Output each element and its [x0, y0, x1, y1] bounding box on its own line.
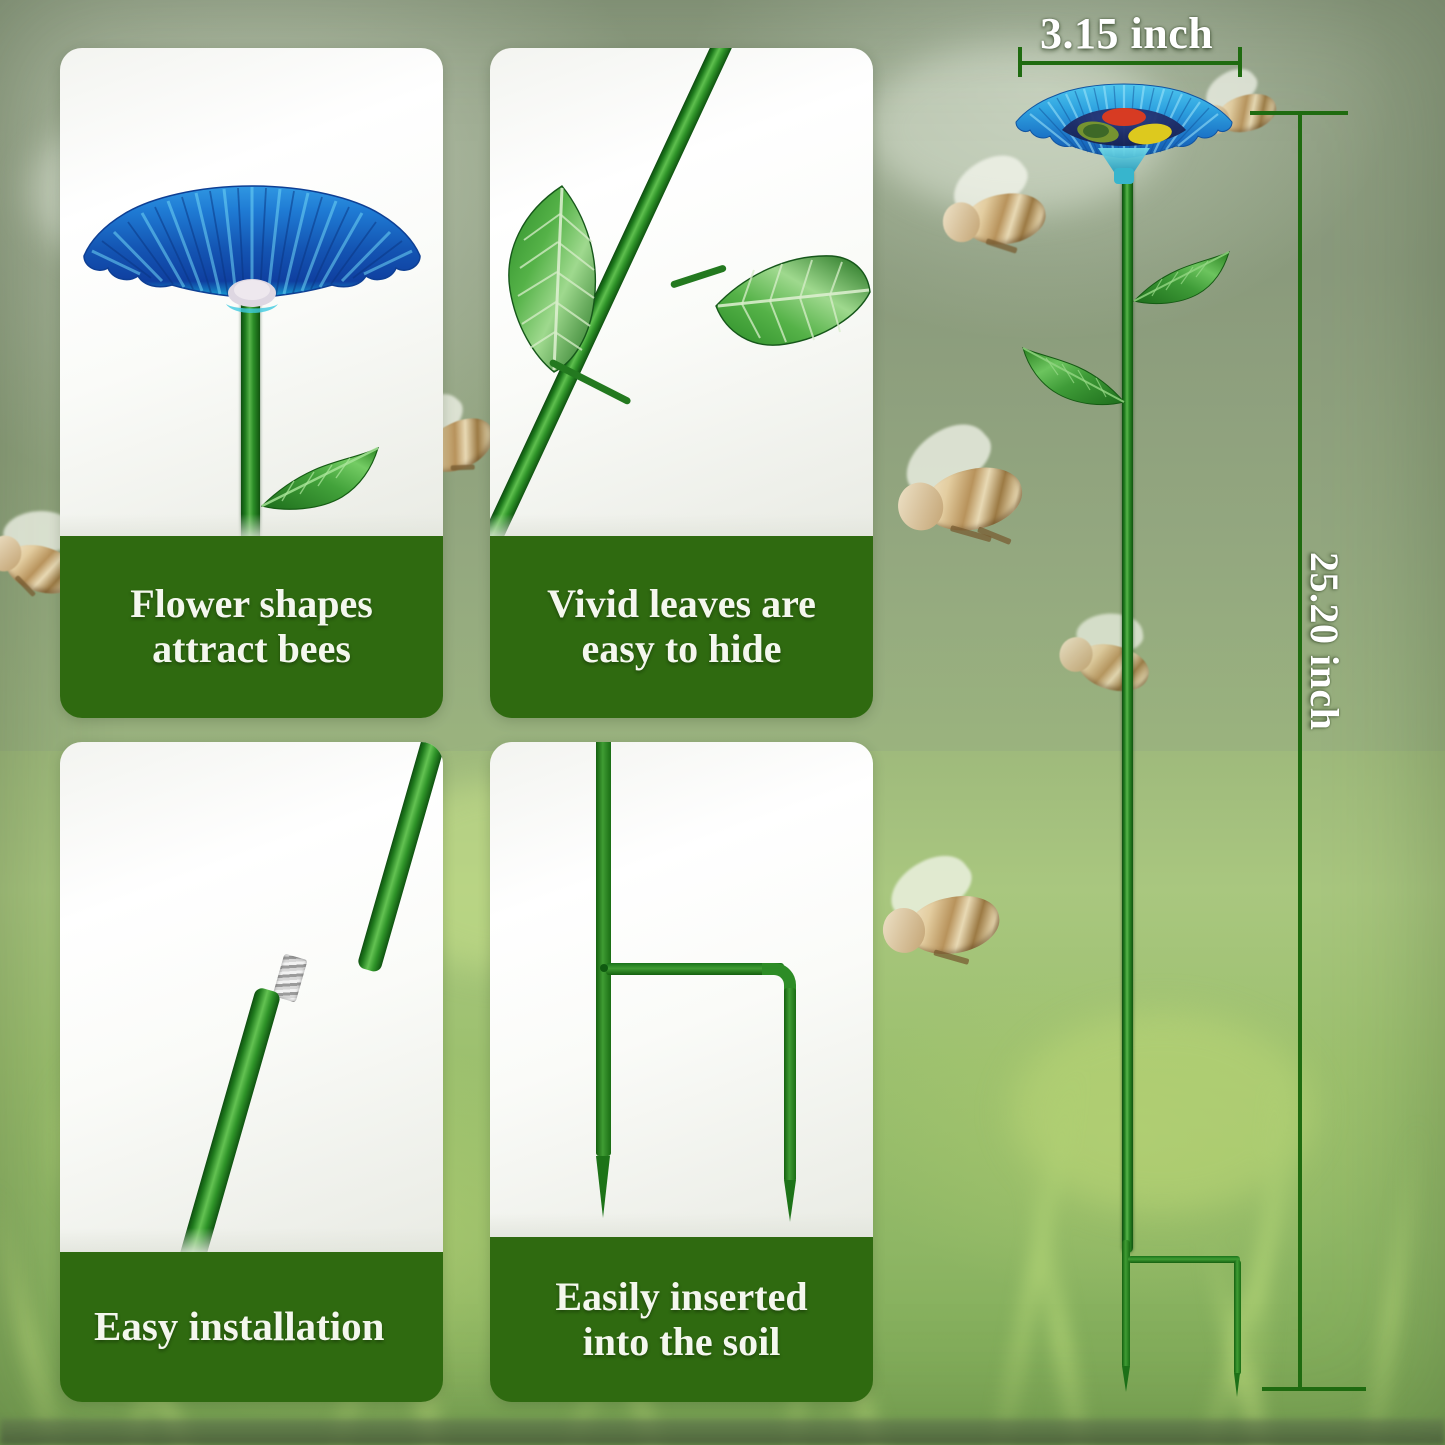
caption-line-1: Easy installation: [94, 1304, 443, 1350]
caption-text: Easy installation: [60, 1304, 443, 1350]
feature-card-photo: [60, 48, 443, 540]
dimension-height-cap-bottom: [1262, 1387, 1366, 1391]
caption-line-2: attract bees: [76, 627, 427, 672]
feature-card-caption: Easily inserted into the soil: [490, 1237, 873, 1402]
caption-text: Easily inserted into the soil: [490, 1275, 873, 1365]
dimension-width-label: 3.15 inch: [1040, 8, 1213, 59]
caption-text: Flower shapes attract bees: [60, 582, 443, 672]
leaf-icon: [1128, 243, 1232, 309]
card3-rod-lower: [174, 986, 282, 1254]
caption-line-1: Easily inserted: [506, 1275, 857, 1320]
dimension-width-cap-left: [1018, 47, 1022, 77]
feature-card-photo: [490, 48, 873, 540]
dimension-width-cap-right: [1238, 47, 1242, 77]
card2-leaf-right: [708, 240, 873, 358]
feature-card-caption: Flower shapes attract bees: [60, 536, 443, 718]
product-leaf-upper-right: [1128, 243, 1232, 309]
flower-bowl-icon: [1010, 72, 1238, 188]
card4-joint-dot: [600, 964, 608, 972]
card3-rod-upper: [356, 742, 443, 973]
photo-bottom-fade: [60, 1228, 443, 1254]
caption-line-1: Flower shapes: [76, 582, 427, 627]
feature-card-photo: [60, 742, 443, 1254]
caption-text: Vivid leaves are easy to hide: [490, 582, 873, 672]
dimension-height-line: [1298, 113, 1302, 1391]
feature-card-easily-inserted[interactable]: Easily inserted into the soil: [490, 742, 873, 1402]
flower-bowl-icon: [74, 146, 430, 322]
feature-card-caption: Easy installation: [60, 1252, 443, 1402]
card2-leaf-left: [498, 180, 618, 380]
feature-card-caption: Vivid leaves are easy to hide: [490, 536, 873, 718]
leaf-icon: [708, 240, 873, 358]
leaf-icon: [256, 436, 384, 518]
card4-crossbar: [606, 963, 784, 975]
caption-line-2: into the soil: [506, 1320, 857, 1365]
card1-flower-head: [74, 146, 430, 322]
product-stem-upper: [1122, 168, 1133, 1253]
feature-card-easy-installation[interactable]: Easy installation: [60, 742, 443, 1402]
card4-main-prong-tip: [596, 1156, 610, 1218]
feature-card-flower-shapes[interactable]: Flower shapes attract bees: [60, 48, 443, 718]
leaf-icon: [1018, 338, 1130, 410]
feature-card-photo: [490, 742, 873, 1239]
photo-bottom-fade: [490, 1213, 873, 1239]
card1-leaf: [256, 436, 384, 518]
dimension-height-label: 25.20 inch: [1301, 552, 1348, 730]
product-flower-head: [1010, 72, 1238, 188]
infographic-canvas: 3.15 inch 25.20 inch: [0, 0, 1445, 1445]
dimension-height-cap-top: [1250, 111, 1348, 115]
product-leaf-middle-left: [1018, 338, 1130, 410]
card4-second-prong: [784, 988, 796, 1182]
leaf-icon: [498, 180, 618, 380]
caption-line-2: easy to hide: [506, 627, 857, 672]
caption-line-1: Vivid leaves are: [506, 582, 857, 627]
dimension-width-line: [1018, 61, 1242, 65]
product-ground-stake: [1110, 1240, 1270, 1410]
feature-card-vivid-leaves[interactable]: Vivid leaves are easy to hide: [490, 48, 873, 718]
card4-stake: [490, 742, 873, 1239]
card4-main-prong: [596, 742, 611, 1156]
